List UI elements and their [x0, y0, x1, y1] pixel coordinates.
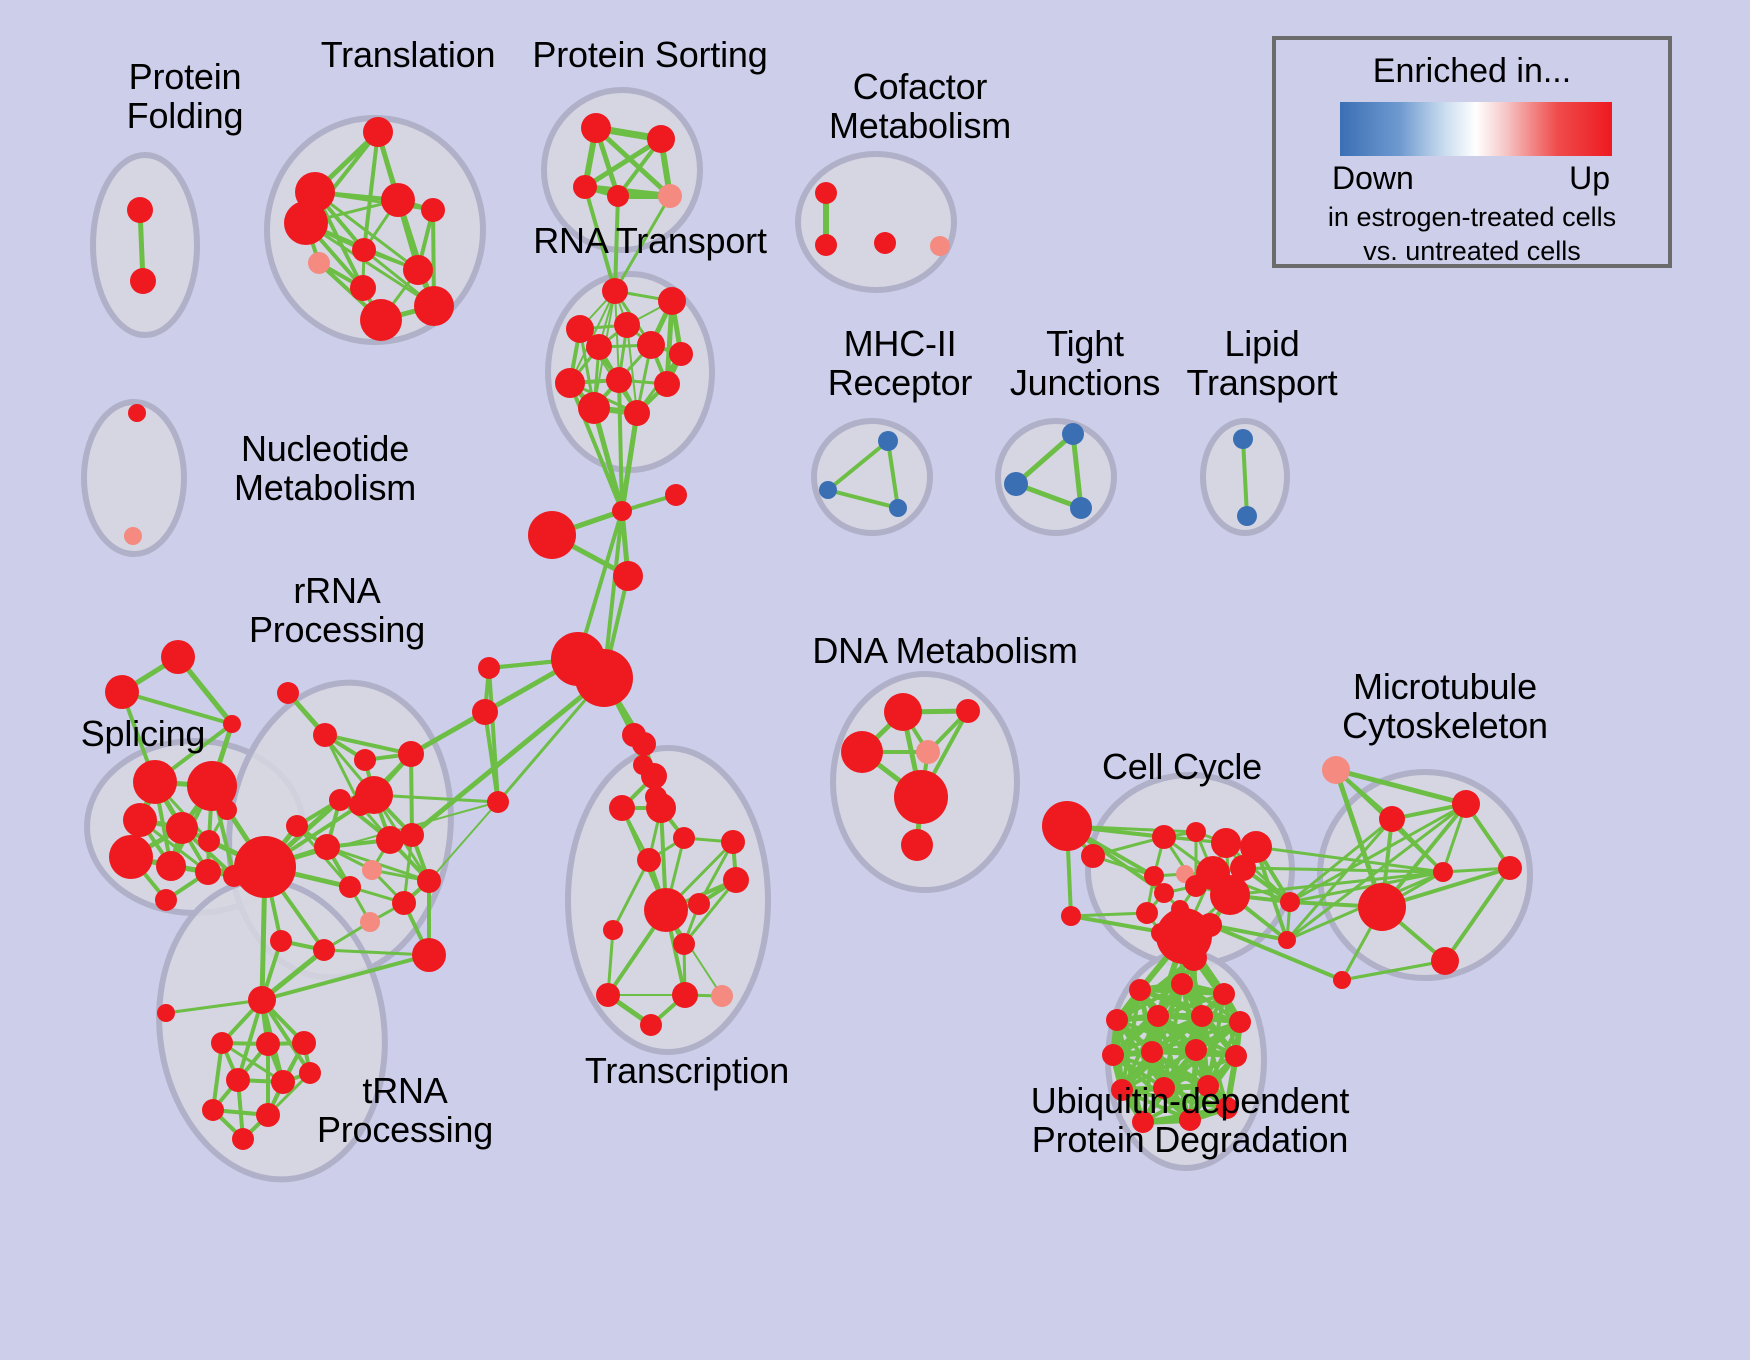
network-node[interactable] — [421, 198, 445, 222]
network-node[interactable] — [672, 982, 698, 1008]
network-node[interactable] — [578, 392, 610, 424]
network-node[interactable] — [1062, 423, 1084, 445]
network-node[interactable] — [669, 342, 693, 366]
network-node[interactable] — [350, 275, 376, 301]
network-node[interactable] — [723, 867, 749, 893]
network-node[interactable] — [644, 888, 688, 932]
network-node[interactable] — [398, 741, 424, 767]
network-node[interactable] — [613, 561, 643, 591]
network-node[interactable] — [602, 278, 628, 304]
cluster-label-ubiquitin-degradation: Ubiquitin-dependent Protein Degradation — [980, 1082, 1400, 1160]
cluster-hull-cofactor-metabolism[interactable] — [798, 154, 954, 290]
network-node[interactable] — [673, 933, 695, 955]
network-node[interactable] — [889, 499, 907, 517]
cluster-hull-mhc-ii-receptor[interactable] — [814, 421, 930, 533]
network-node[interactable] — [478, 657, 500, 679]
network-node[interactable] — [1136, 902, 1158, 924]
network-node[interactable] — [314, 834, 340, 860]
network-node[interactable] — [1186, 822, 1206, 842]
network-node[interactable] — [329, 789, 351, 811]
network-node[interactable] — [609, 795, 635, 821]
network-node[interactable] — [195, 859, 221, 885]
network-node[interactable] — [645, 786, 667, 808]
network-node[interactable] — [400, 823, 424, 847]
network-node[interactable] — [381, 183, 415, 217]
network-node[interactable] — [1278, 931, 1296, 949]
network-node[interactable] — [1171, 973, 1193, 995]
network-node[interactable] — [360, 912, 380, 932]
cluster-label-rna-transport: RNA Transport — [500, 222, 800, 261]
network-node[interactable] — [1211, 828, 1241, 858]
legend-low-label: Down — [1332, 160, 1414, 197]
network-node[interactable] — [360, 299, 402, 341]
network-node[interactable] — [1213, 983, 1235, 1005]
network-node[interactable] — [248, 986, 276, 1014]
network-node[interactable] — [884, 693, 922, 731]
legend-caption-line-2: vs. untreated cells — [1276, 236, 1668, 267]
network-node[interactable] — [624, 400, 650, 426]
network-node[interactable] — [412, 938, 446, 972]
network-node[interactable] — [622, 723, 646, 747]
network-node[interactable] — [815, 234, 837, 256]
network-node[interactable] — [202, 1099, 224, 1121]
network-node[interactable] — [658, 184, 682, 208]
network-node[interactable] — [1185, 1039, 1207, 1061]
cluster-label-trna-processing: tRNA Processing — [290, 1072, 520, 1150]
network-node[interactable] — [819, 481, 837, 499]
network-node[interactable] — [392, 891, 416, 915]
network-node[interactable] — [1106, 1009, 1128, 1031]
cluster-label-protein-folding: Protein Folding — [90, 58, 280, 136]
network-node[interactable] — [157, 1004, 175, 1022]
network-node[interactable] — [1210, 875, 1250, 915]
network-node[interactable] — [130, 268, 156, 294]
network-node[interactable] — [352, 238, 376, 262]
network-node[interactable] — [1181, 945, 1207, 971]
network-node[interactable] — [1322, 756, 1350, 784]
network-node[interactable] — [1358, 883, 1406, 931]
network-node[interactable] — [1498, 856, 1522, 880]
network-node[interactable] — [339, 876, 361, 898]
network-node[interactable] — [123, 803, 157, 837]
legend-color-gradient-bar — [1340, 102, 1612, 156]
network-node[interactable] — [226, 1068, 250, 1092]
network-node[interactable] — [586, 334, 612, 360]
network-node[interactable] — [721, 830, 745, 854]
network-node[interactable] — [362, 860, 382, 880]
network-node[interactable] — [363, 117, 393, 147]
network-node[interactable] — [612, 501, 632, 521]
network-node[interactable] — [1191, 1005, 1213, 1027]
network-node[interactable] — [1433, 862, 1453, 882]
network-node[interactable] — [414, 286, 454, 326]
network-node[interactable] — [633, 755, 653, 775]
network-node[interactable] — [1152, 825, 1176, 849]
network-node[interactable] — [841, 731, 883, 773]
cluster-label-lipid-transport: Lipid Transport — [1152, 325, 1372, 403]
cluster-label-rrna-processing: rRNA Processing — [222, 572, 452, 650]
network-node[interactable] — [606, 367, 632, 393]
network-node[interactable] — [217, 800, 237, 820]
legend-box: Enriched in... Down Up in estrogen-treat… — [1272, 36, 1672, 268]
network-node[interactable] — [166, 812, 198, 844]
network-node[interactable] — [1042, 801, 1092, 851]
network-node[interactable] — [256, 1103, 280, 1127]
cluster-label-splicing: Splicing — [48, 715, 238, 754]
cluster-label-protein-sorting: Protein Sorting — [500, 36, 800, 75]
network-node[interactable] — [1144, 866, 1164, 886]
network-node[interactable] — [1147, 1005, 1169, 1027]
network-node[interactable] — [124, 527, 142, 545]
network-node[interactable] — [1280, 892, 1300, 912]
cluster-label-dna-metabolism: DNA Metabolism — [790, 632, 1100, 671]
network-node[interactable] — [1237, 506, 1257, 526]
network-node[interactable] — [277, 682, 299, 704]
network-node[interactable] — [1333, 971, 1351, 989]
network-node[interactable] — [1004, 472, 1028, 496]
network-node[interactable] — [665, 484, 687, 506]
network-node[interactable] — [128, 404, 146, 422]
network-node[interactable] — [1379, 806, 1405, 832]
network-node[interactable] — [313, 939, 335, 961]
network-node[interactable] — [894, 770, 948, 824]
network-node[interactable] — [637, 848, 661, 872]
network-node[interactable] — [133, 760, 177, 804]
network-node[interactable] — [603, 920, 623, 940]
network-node[interactable] — [105, 675, 139, 709]
cluster-label-cofactor-metabolism: Cofactor Metabolism — [790, 68, 1050, 146]
network-node[interactable] — [417, 869, 441, 893]
legend-high-label: Up — [1569, 160, 1610, 197]
network-node[interactable] — [575, 649, 633, 707]
network-node[interactable] — [1102, 1044, 1124, 1066]
network-node[interactable] — [211, 1032, 233, 1054]
network-node[interactable] — [1129, 979, 1151, 1001]
cluster-label-translation: Translation — [288, 36, 528, 75]
network-node[interactable] — [614, 312, 640, 338]
network-node[interactable] — [349, 794, 371, 816]
network-node[interactable] — [232, 1128, 254, 1150]
network-node[interactable] — [1081, 844, 1105, 868]
cluster-label-nucleotide-metabolism: Nucleotide Metabolism — [190, 430, 460, 508]
network-figure: Protein FoldingTranslationProtein Sortin… — [0, 0, 1750, 1360]
network-node[interactable] — [528, 511, 576, 559]
network-node[interactable] — [1452, 790, 1480, 818]
legend-title: Enriched in... — [1276, 52, 1668, 91]
network-node[interactable] — [109, 835, 153, 879]
network-node[interactable] — [472, 699, 498, 725]
network-node[interactable] — [127, 197, 153, 223]
network-node[interactable] — [573, 175, 597, 199]
network-node[interactable] — [155, 889, 177, 911]
network-node[interactable] — [555, 368, 585, 398]
network-node[interactable] — [647, 125, 675, 153]
network-node[interactable] — [1225, 1045, 1247, 1067]
network-node[interactable] — [161, 640, 195, 674]
network-node[interactable] — [270, 930, 292, 952]
network-node[interactable] — [878, 431, 898, 451]
network-node[interactable] — [596, 983, 620, 1007]
network-node[interactable] — [607, 185, 629, 207]
network-node[interactable] — [376, 826, 404, 854]
cluster-label-transcription: Transcription — [552, 1052, 822, 1091]
network-node[interactable] — [640, 1014, 662, 1036]
network-node[interactable] — [1061, 906, 1081, 926]
network-node[interactable] — [1070, 497, 1092, 519]
network-node[interactable] — [956, 699, 980, 723]
legend-caption-line-1: in estrogen-treated cells — [1276, 202, 1668, 233]
network-node[interactable] — [1229, 1011, 1251, 1033]
network-node[interactable] — [1233, 429, 1253, 449]
network-node[interactable] — [1154, 883, 1174, 903]
network-node[interactable] — [292, 1031, 316, 1055]
network-node[interactable] — [313, 723, 337, 747]
network-node[interactable] — [815, 182, 837, 204]
cluster-label-microtubule-cytoskeleton: Microtubule Cytoskeleton — [1280, 668, 1610, 746]
network-node[interactable] — [354, 749, 376, 771]
network-node[interactable] — [930, 236, 950, 256]
network-node[interactable] — [916, 740, 940, 764]
network-node[interactable] — [1185, 875, 1207, 897]
network-node[interactable] — [654, 371, 680, 397]
network-node[interactable] — [901, 829, 933, 861]
network-node[interactable] — [234, 836, 296, 898]
network-node[interactable] — [487, 791, 509, 813]
network-node[interactable] — [637, 331, 665, 359]
network-node[interactable] — [658, 287, 686, 315]
network-node[interactable] — [581, 113, 611, 143]
edge-inter-cluster — [1194, 958, 1196, 1050]
network-node[interactable] — [1141, 1041, 1163, 1063]
cluster-label-cell-cycle: Cell Cycle — [1062, 748, 1302, 787]
network-node[interactable] — [286, 815, 308, 837]
cluster-hull-protein-folding[interactable] — [93, 155, 197, 335]
network-node[interactable] — [403, 255, 433, 285]
network-node[interactable] — [711, 985, 733, 1007]
network-node[interactable] — [1431, 947, 1459, 975]
network-node[interactable] — [284, 201, 328, 245]
network-node[interactable] — [673, 827, 695, 849]
network-node[interactable] — [688, 893, 710, 915]
network-node[interactable] — [874, 232, 896, 254]
network-node[interactable] — [198, 830, 220, 852]
network-node[interactable] — [308, 252, 330, 274]
network-node[interactable] — [156, 851, 186, 881]
network-node[interactable] — [256, 1032, 280, 1056]
